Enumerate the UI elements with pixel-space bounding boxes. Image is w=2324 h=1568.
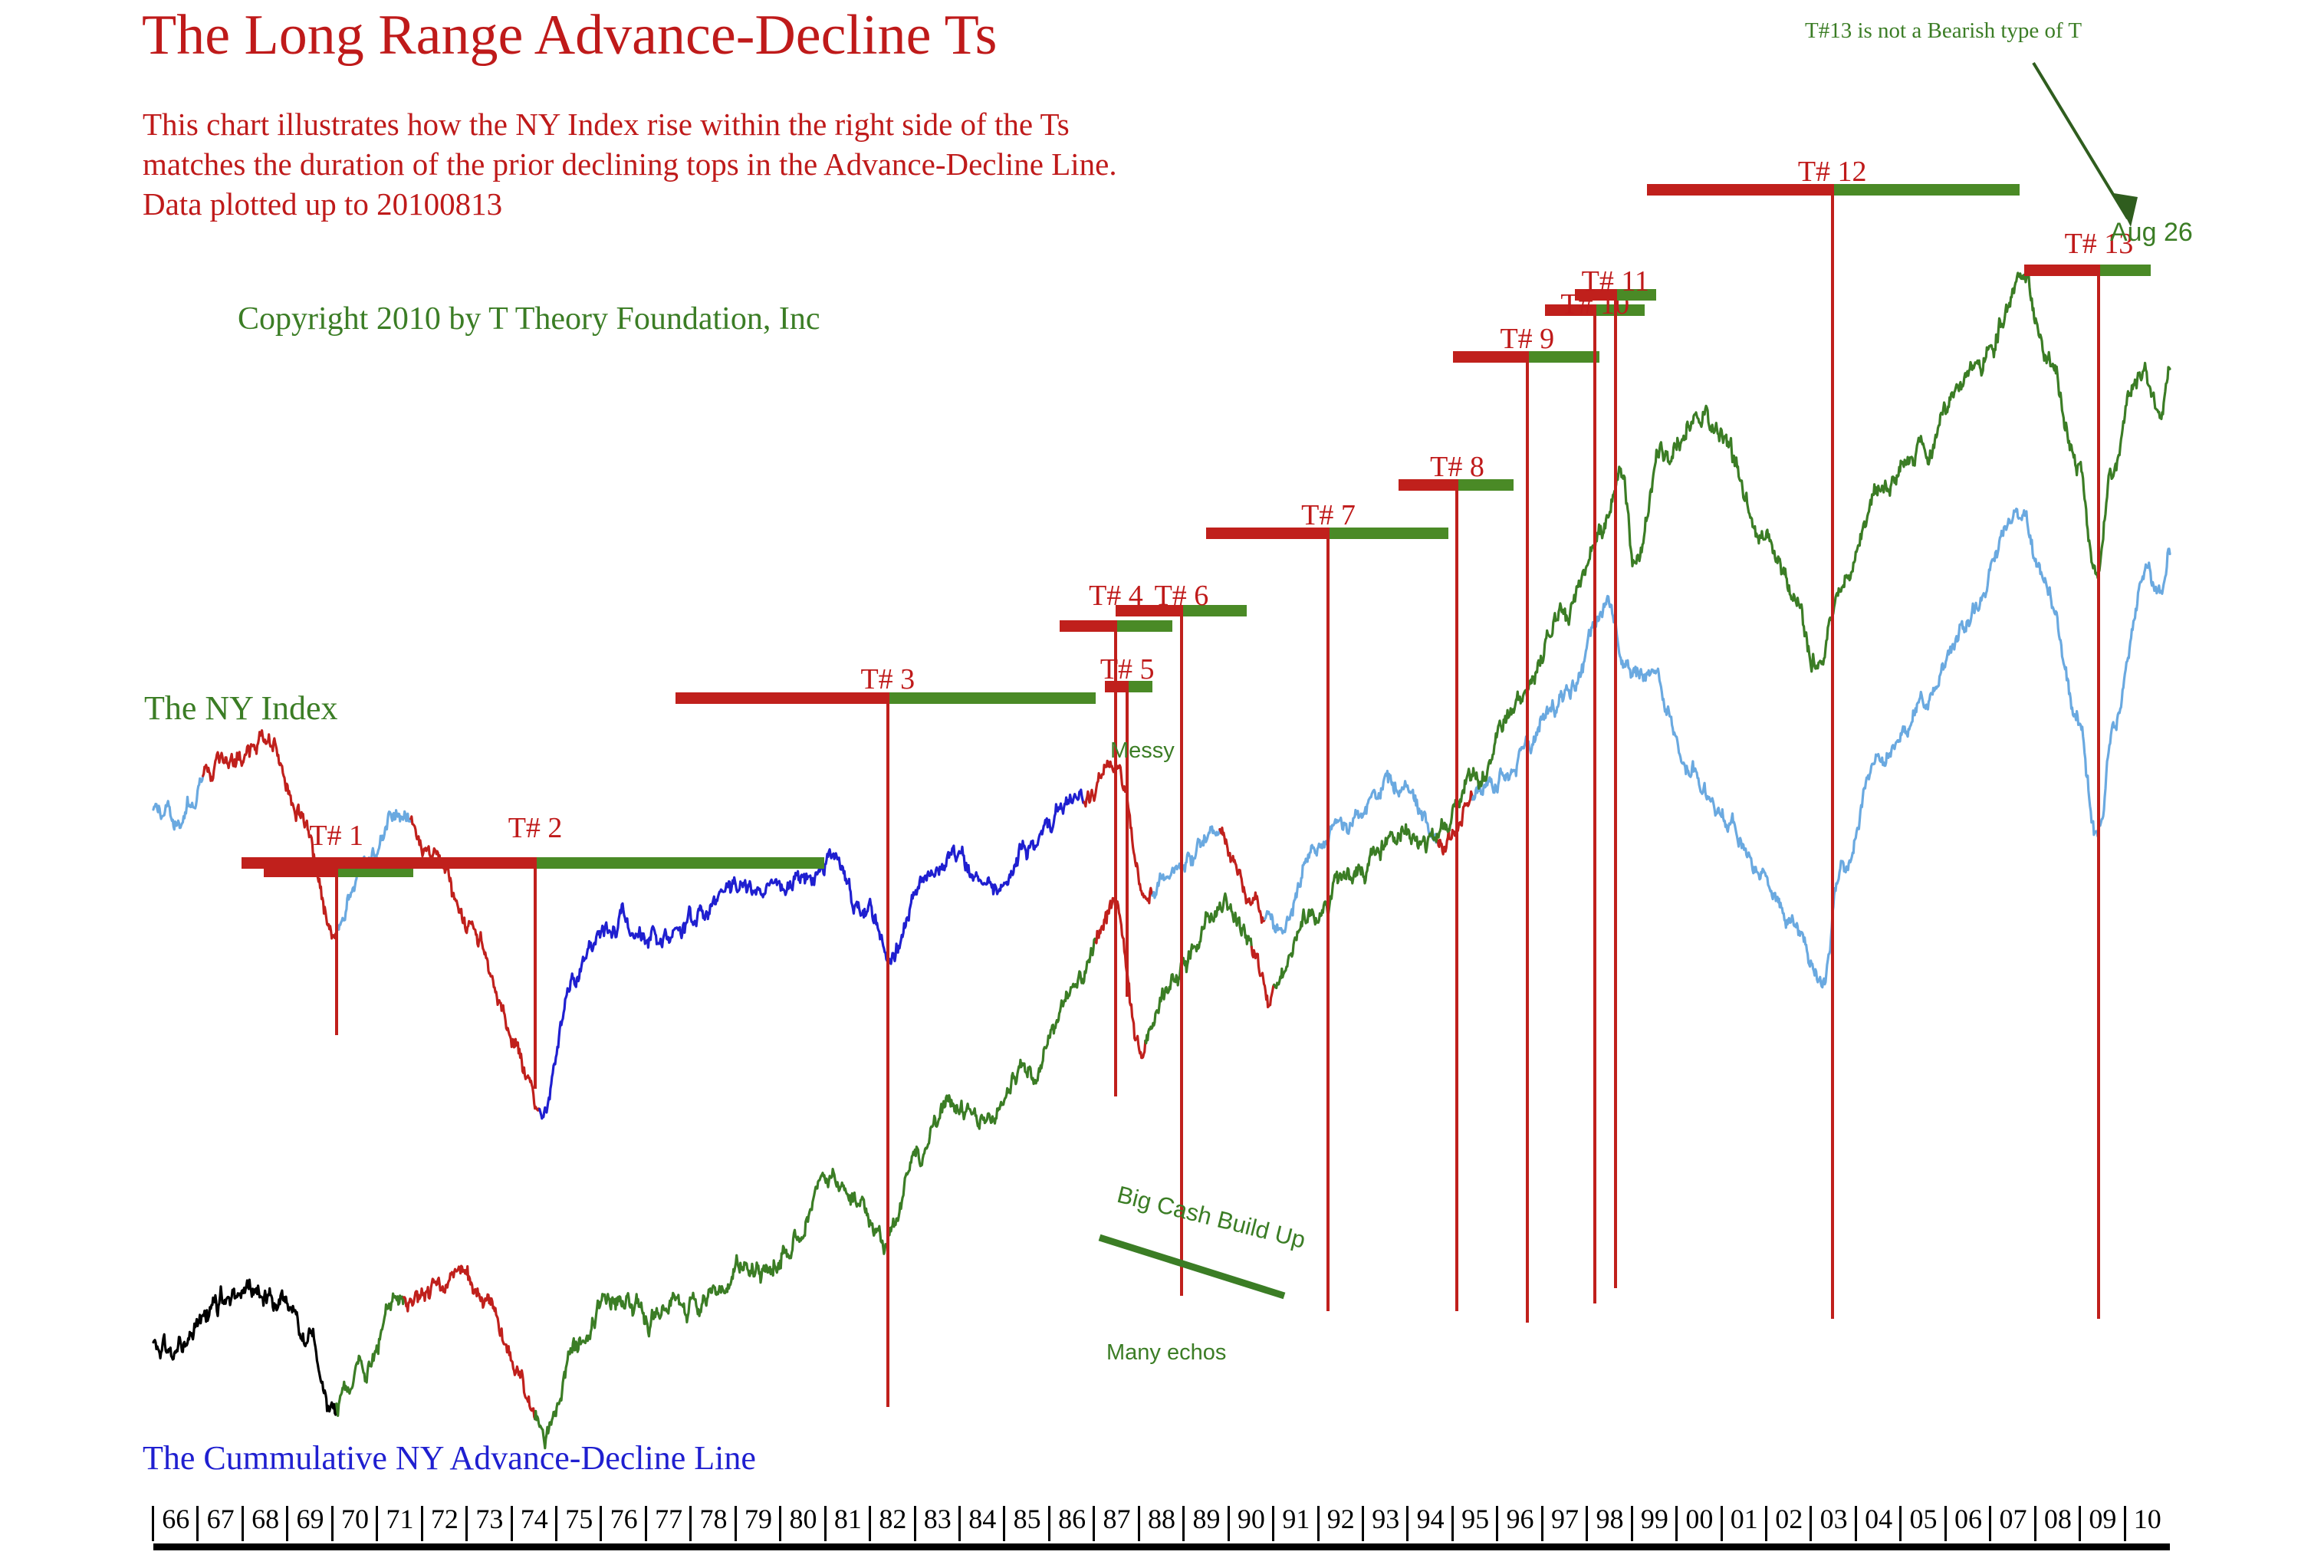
x-tick-label: 69 bbox=[288, 1503, 332, 1535]
ad-line-segment-9 bbox=[1265, 771, 1438, 934]
t-marker-label-11: T# 11 bbox=[1582, 265, 1649, 298]
x-tick-79: 79 bbox=[736, 1504, 781, 1544]
x-tick-76: 76 bbox=[601, 1504, 646, 1544]
t3-stem bbox=[886, 692, 889, 1407]
t2-decline-bar bbox=[242, 857, 535, 869]
x-tick-97: 97 bbox=[1543, 1504, 1587, 1544]
x-tick-label: 72 bbox=[422, 1503, 467, 1535]
x-tick-label: 71 bbox=[377, 1503, 422, 1535]
t10-stem bbox=[1593, 304, 1596, 1303]
x-tick-73: 73 bbox=[467, 1504, 511, 1544]
x-tick-68: 68 bbox=[243, 1504, 288, 1544]
t4-advance-bar bbox=[1116, 620, 1172, 632]
t7-stem bbox=[1326, 528, 1330, 1311]
many-echos-note: Many echos bbox=[1106, 1340, 1226, 1366]
t-marker-label-6: T# 6 bbox=[1155, 579, 1209, 613]
ny-index-segment-5 bbox=[888, 938, 1096, 1240]
t4-decline-bar bbox=[1060, 620, 1116, 632]
x-axis-ticks: 6667686970717273747576777879808182838485… bbox=[153, 1504, 2170, 1544]
x-tick-label: 86 bbox=[1050, 1503, 1094, 1535]
x-tick-label: 79 bbox=[736, 1503, 781, 1535]
ny-index-segment-1 bbox=[262, 1288, 337, 1415]
x-tick-84: 84 bbox=[960, 1504, 1004, 1544]
ad-line-segment-5 bbox=[890, 790, 1084, 964]
x-tick-72: 72 bbox=[422, 1504, 467, 1544]
t3-decline-bar bbox=[676, 692, 888, 704]
x-tick-label: 00 bbox=[1677, 1503, 1721, 1535]
t11-stem bbox=[1614, 289, 1617, 1288]
t-marker-label-7: T# 7 bbox=[1301, 498, 1356, 532]
x-tick-label: 93 bbox=[1363, 1503, 1408, 1535]
x-tick-label: 74 bbox=[512, 1503, 557, 1535]
x-tick-label: 70 bbox=[333, 1503, 377, 1535]
x-tick-label: 08 bbox=[2036, 1503, 2080, 1535]
x-tick-70: 70 bbox=[333, 1504, 377, 1544]
t-marker-label-1: T# 1 bbox=[309, 819, 363, 853]
x-tick-69: 69 bbox=[288, 1504, 332, 1544]
x-tick-96: 96 bbox=[1497, 1504, 1542, 1544]
x-tick-82: 82 bbox=[870, 1504, 915, 1544]
t-marker-label-12: T# 12 bbox=[1798, 155, 1867, 189]
ad-line-segment-4 bbox=[540, 850, 890, 1119]
x-tick-93: 93 bbox=[1363, 1504, 1408, 1544]
ny-index-segment-6 bbox=[1096, 899, 1146, 1058]
x-tick-03: 03 bbox=[1811, 1504, 1856, 1544]
x-tick-89: 89 bbox=[1184, 1504, 1228, 1544]
x-tick-74: 74 bbox=[512, 1504, 557, 1544]
x-tick-label: 07 bbox=[1990, 1503, 2035, 1535]
t3-advance-bar bbox=[888, 692, 1096, 704]
t2-advance-bar bbox=[535, 857, 824, 869]
x-tick-label: 91 bbox=[1274, 1503, 1318, 1535]
x-tick-67: 67 bbox=[198, 1504, 242, 1544]
x-tick-75: 75 bbox=[557, 1504, 601, 1544]
t2-stem bbox=[534, 857, 537, 1089]
x-tick-label: 03 bbox=[1811, 1503, 1856, 1535]
ny-index-series-label: The NY Index bbox=[144, 689, 338, 728]
x-tick-80: 80 bbox=[781, 1504, 825, 1544]
x-tick-label: 98 bbox=[1587, 1503, 1632, 1535]
x-tick-85: 85 bbox=[1004, 1504, 1049, 1544]
x-tick-08: 08 bbox=[2036, 1504, 2080, 1544]
ny-index-segment-9 bbox=[1274, 272, 2170, 988]
x-tick-label: 87 bbox=[1094, 1503, 1139, 1535]
x-tick-01: 01 bbox=[1722, 1504, 1767, 1544]
x-tick-label: 04 bbox=[1856, 1503, 1901, 1535]
t9-stem bbox=[1526, 351, 1529, 1323]
x-tick-10: 10 bbox=[2125, 1504, 2170, 1544]
x-tick-label: 75 bbox=[557, 1503, 601, 1535]
t13-stem bbox=[2097, 265, 2100, 1319]
x-tick-label: 82 bbox=[870, 1503, 915, 1535]
x-tick-label: 06 bbox=[1946, 1503, 1990, 1535]
ny-index-segment-3 bbox=[404, 1266, 535, 1419]
t-marker-label-8: T# 8 bbox=[1430, 450, 1484, 484]
x-tick-label: 97 bbox=[1543, 1503, 1587, 1535]
x-tick-label: 94 bbox=[1408, 1503, 1452, 1535]
t6-stem bbox=[1180, 605, 1183, 1296]
x-tick-label: 96 bbox=[1497, 1503, 1542, 1535]
x-tick-label: 66 bbox=[153, 1503, 198, 1535]
chart-canvas: The Long Range Advance-Decline Ts This c… bbox=[0, 0, 2324, 1568]
ny-index-segment-7 bbox=[1146, 893, 1252, 1043]
x-tick-label: 05 bbox=[1901, 1503, 1945, 1535]
x-axis-line bbox=[153, 1543, 2170, 1550]
x-tick-04: 04 bbox=[1856, 1504, 1901, 1544]
x-tick-label: 88 bbox=[1139, 1503, 1184, 1535]
x-tick-87: 87 bbox=[1094, 1504, 1139, 1544]
x-tick-02: 02 bbox=[1767, 1504, 1811, 1544]
x-tick-label: 76 bbox=[601, 1503, 646, 1535]
x-tick-78: 78 bbox=[691, 1504, 735, 1544]
ad-line-segment-11 bbox=[1473, 509, 2170, 988]
x-tick-66: 66 bbox=[153, 1504, 198, 1544]
x-tick-90: 90 bbox=[1229, 1504, 1274, 1544]
x-tick-07: 07 bbox=[1990, 1504, 2035, 1544]
t5-stem bbox=[1126, 681, 1129, 997]
x-tick-label: 90 bbox=[1229, 1503, 1274, 1535]
x-tick-label: 92 bbox=[1319, 1503, 1363, 1535]
x-tick-05: 05 bbox=[1901, 1504, 1945, 1544]
x-tick-00: 00 bbox=[1677, 1504, 1721, 1544]
x-tick-label: 02 bbox=[1767, 1503, 1811, 1535]
x-tick-label: 80 bbox=[781, 1503, 825, 1535]
t13-advance-bar bbox=[2099, 265, 2151, 276]
t8-stem bbox=[1455, 479, 1458, 1311]
ad-line-segment-7 bbox=[1152, 827, 1220, 898]
x-tick-label: 95 bbox=[1453, 1503, 1497, 1535]
ny-index-segment-2 bbox=[337, 1294, 404, 1415]
x-tick-09: 09 bbox=[2080, 1504, 2125, 1544]
ny-index-segment-0 bbox=[153, 1280, 262, 1359]
x-tick-label: 78 bbox=[691, 1503, 735, 1535]
aug26-note: Aug 26 bbox=[2110, 218, 2193, 248]
t-marker-label-5: T# 5 bbox=[1100, 653, 1155, 686]
x-tick-label: 01 bbox=[1722, 1503, 1767, 1535]
x-tick-label: 09 bbox=[2080, 1503, 2125, 1535]
x-tick-label: 89 bbox=[1184, 1503, 1228, 1535]
x-tick-83: 83 bbox=[915, 1504, 960, 1544]
x-tick-label: 10 bbox=[2125, 1503, 2170, 1535]
x-tick-label: 84 bbox=[960, 1503, 1004, 1535]
plot-surface bbox=[0, 0, 2324, 1568]
x-tick-71: 71 bbox=[377, 1504, 422, 1544]
x-tick-label: 99 bbox=[1632, 1503, 1677, 1535]
x-tick-81: 81 bbox=[826, 1504, 870, 1544]
ad-line-series-label: The Cummulative NY Advance-Decline Line bbox=[143, 1438, 756, 1478]
x-tick-98: 98 bbox=[1587, 1504, 1632, 1544]
ad-line-segment-6 bbox=[1084, 761, 1152, 903]
ad-line-segment-0 bbox=[153, 776, 203, 830]
bearish-note: T#13 is not a Bearish type of T bbox=[1805, 18, 2082, 44]
t12-stem bbox=[1831, 184, 1834, 1319]
x-tick-label: 81 bbox=[826, 1503, 870, 1535]
ny-index-segment-8 bbox=[1251, 947, 1274, 1007]
x-tick-label: 77 bbox=[646, 1503, 691, 1535]
t13-decline-bar bbox=[2024, 265, 2099, 276]
t1-stem bbox=[335, 866, 338, 1035]
t-marker-label-2: T# 2 bbox=[508, 811, 563, 845]
x-tick-99: 99 bbox=[1632, 1504, 1677, 1544]
x-tick-label: 85 bbox=[1004, 1503, 1049, 1535]
x-tick-92: 92 bbox=[1319, 1504, 1363, 1544]
x-tick-label: 73 bbox=[467, 1503, 511, 1535]
x-tick-label: 83 bbox=[915, 1503, 960, 1535]
messy-note: Messy bbox=[1110, 738, 1175, 764]
x-tick-06: 06 bbox=[1946, 1504, 1990, 1544]
x-tick-77: 77 bbox=[646, 1504, 691, 1544]
x-tick-94: 94 bbox=[1408, 1504, 1452, 1544]
x-tick-95: 95 bbox=[1453, 1504, 1497, 1544]
ny-index-segment-4 bbox=[535, 1169, 888, 1448]
x-tick-88: 88 bbox=[1139, 1504, 1184, 1544]
x-tick-label: 67 bbox=[198, 1503, 242, 1535]
t-marker-label-9: T# 9 bbox=[1500, 322, 1554, 356]
t-marker-label-3: T# 3 bbox=[860, 662, 915, 696]
x-tick-label: 68 bbox=[243, 1503, 288, 1535]
x-tick-91: 91 bbox=[1274, 1504, 1318, 1544]
x-tick-86: 86 bbox=[1050, 1504, 1094, 1544]
